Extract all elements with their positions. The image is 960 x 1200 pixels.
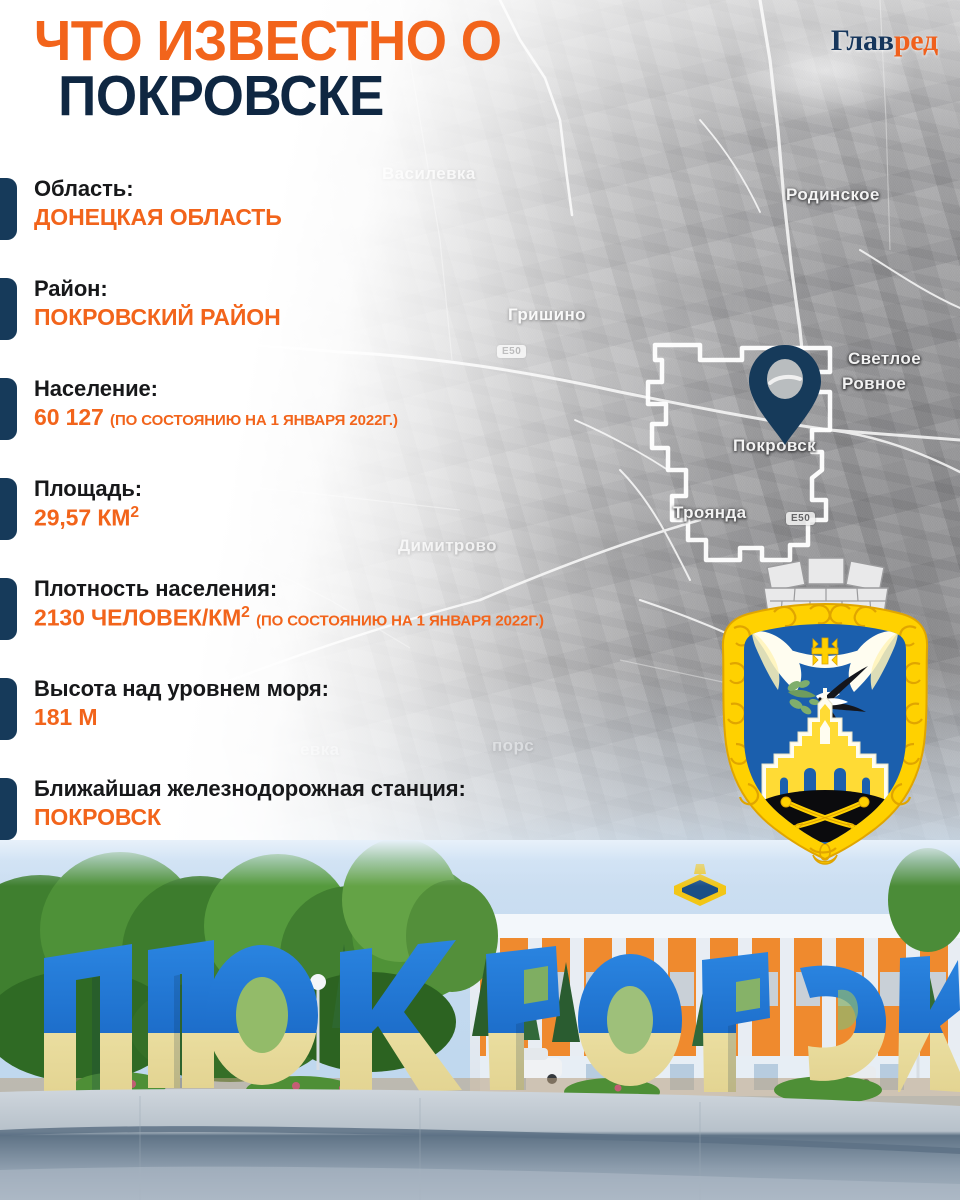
fact-value: 181 М — [34, 704, 97, 730]
fact-value-wrapper: ДОНЕЦКАЯ ОБЛАСТЬ — [34, 204, 760, 232]
bullet-marker — [0, 678, 17, 740]
brand-part-glav: Глав — [831, 24, 894, 57]
bullet-marker — [0, 778, 17, 840]
fact-label: Ближайшая железнодорожная станция: — [34, 776, 760, 802]
fact-row-oblast: Область: ДОНЕЦКАЯ ОБЛАСТЬ — [0, 176, 760, 276]
fact-value: 60 127 — [34, 404, 104, 430]
fact-value-wrapper: ПОКРОВСКИЙ РАЙОН — [34, 304, 760, 332]
page-title: ЧТО ИЗВЕСТНО О ПОКРОВСКЕ — [34, 14, 502, 123]
fact-value-superscript: 2 — [241, 604, 250, 621]
fact-label: Район: — [34, 276, 760, 302]
coat-of-arms-icon — [700, 552, 950, 872]
fact-value-wrapper: 181 М — [34, 704, 760, 732]
fact-row-density: Плотность населения: 2130 ЧЕЛОВЕК/КМ2 (П… — [0, 576, 760, 676]
fact-row-elevation: Высота над уровнем моря: 181 М — [0, 676, 760, 776]
fact-row-area: Площадь: 29,57 КМ2 — [0, 476, 760, 576]
fact-row-railway-station: Ближайшая железнодорожная станция: ПОКРО… — [0, 776, 760, 876]
bullet-marker — [0, 278, 17, 340]
fact-value: 29,57 КМ — [34, 504, 130, 530]
fact-value: ДОНЕЦКАЯ ОБЛАСТЬ — [34, 204, 282, 230]
fact-value-wrapper: 29,57 КМ2 — [34, 504, 760, 532]
fact-note: (ПО СОСТОЯНИЮ НА 1 ЯНВАРЯ 2022Г.) — [110, 412, 398, 429]
bullet-marker — [0, 578, 17, 640]
fact-label: Площадь: — [34, 476, 760, 502]
fact-label: Плотность населения: — [34, 576, 760, 602]
bullet-marker — [0, 178, 17, 240]
concrete-wall — [0, 1089, 960, 1200]
fact-value-superscript: 2 — [130, 504, 139, 521]
fact-list: Область: ДОНЕЦКАЯ ОБЛАСТЬ Район: ПОКРОВС… — [0, 176, 760, 876]
bullet-marker — [0, 478, 17, 540]
fact-label: Область: — [34, 176, 760, 202]
photo-illustration — [0, 840, 960, 1200]
infographic-root: Василевка Родинское Гришино Светлое Ровн… — [0, 0, 960, 1200]
bullet-marker — [0, 378, 17, 440]
title-line-1: ЧТО ИЗВЕСТНО О — [34, 14, 502, 69]
photo-scene — [0, 840, 960, 1200]
coat-of-arms — [700, 552, 950, 877]
gold-cross-icon — [812, 638, 838, 665]
city-photo — [0, 840, 960, 1200]
fact-note: (ПО СОСТОЯНИЮ НА 1 ЯНВАРЯ 2022Г.) — [256, 612, 544, 629]
fact-label: Население: — [34, 376, 760, 402]
fact-value-wrapper: 60 127 (ПО СОСТОЯНИЮ НА 1 ЯНВАРЯ 2022Г.) — [34, 404, 760, 432]
fact-row-population: Население: 60 127 (ПО СОСТОЯНИЮ НА 1 ЯНВ… — [0, 376, 760, 476]
brand-logo[interactable]: Главред — [831, 26, 938, 56]
brand-part-red: ред — [894, 24, 938, 57]
fact-value-wrapper: 2130 ЧЕЛОВЕК/КМ2 (ПО СОСТОЯНИЮ НА 1 ЯНВА… — [34, 604, 760, 632]
fact-label: Высота над уровнем моря: — [34, 676, 760, 702]
fact-row-rayon: Район: ПОКРОВСКИЙ РАЙОН — [0, 276, 760, 376]
fact-value: ПОКРОВСКИЙ РАЙОН — [34, 304, 281, 330]
fact-value: ПОКРОВСК — [34, 804, 161, 830]
fact-value-wrapper: ПОКРОВСК — [34, 804, 760, 832]
title-line-2: ПОКРОВСКЕ — [58, 69, 501, 124]
fact-value: 2130 ЧЕЛОВЕК/КМ — [34, 604, 241, 630]
